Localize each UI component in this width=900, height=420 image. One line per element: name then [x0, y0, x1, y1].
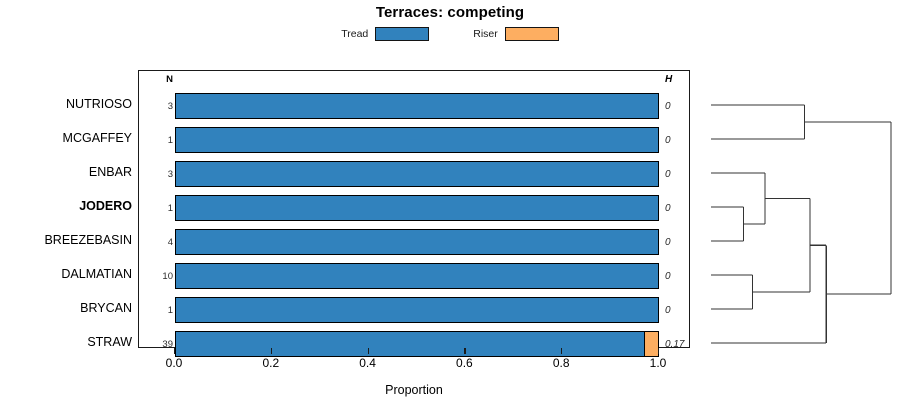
- chart-root: Terraces: competing TreadRiser N H 30103…: [0, 0, 900, 420]
- stacked-bar[interactable]: [175, 195, 659, 221]
- y-axis-label-mcgaffey: MCGAFFEY: [0, 131, 132, 145]
- chart-row: 10: [139, 123, 691, 157]
- stacked-bar[interactable]: [175, 161, 659, 187]
- n-value: 1: [147, 305, 173, 316]
- x-tick-mark: [368, 348, 369, 354]
- dendrogram: [690, 70, 900, 348]
- n-value: 3: [147, 169, 173, 180]
- bar-segment-tread[interactable]: [176, 94, 658, 118]
- n-value: 3: [147, 101, 173, 112]
- stacked-bar[interactable]: [175, 127, 659, 153]
- chart-row: 40: [139, 225, 691, 259]
- y-axis-label-nutrioso: NUTRIOSO: [0, 97, 132, 111]
- y-axis-label-straw: STRAW: [0, 335, 132, 349]
- stacked-bar[interactable]: [175, 297, 659, 323]
- bar-segment-tread[interactable]: [176, 196, 658, 220]
- legend-label: Riser: [473, 28, 498, 40]
- n-value: 1: [147, 135, 173, 146]
- x-tick-label: 0.6: [439, 356, 489, 370]
- stacked-bar[interactable]: [175, 263, 659, 289]
- legend-item-riser: Riser: [473, 27, 559, 41]
- x-tick-label: 0.8: [536, 356, 586, 370]
- x-tick-label: 0.4: [343, 356, 393, 370]
- y-axis-label-brycan: BRYCAN: [0, 301, 132, 315]
- chart-row: 10: [139, 293, 691, 327]
- bar-segment-tread[interactable]: [176, 230, 658, 254]
- x-tick-label: 0.0: [149, 356, 199, 370]
- x-tick-label: 0.2: [246, 356, 296, 370]
- x-tick-mark: [271, 348, 272, 354]
- legend-swatch-riser: [505, 27, 559, 41]
- y-axis-label-jodero: JODERO: [0, 199, 132, 213]
- legend-label: Tread: [341, 28, 368, 40]
- x-axis-title: Proportion: [138, 383, 690, 397]
- bar-segment-tread[interactable]: [176, 128, 658, 152]
- chart-row: 100: [139, 259, 691, 293]
- n-value: 1: [147, 203, 173, 214]
- legend-swatch-tread: [375, 27, 429, 41]
- bar-segment-tread[interactable]: [176, 298, 658, 322]
- bar-segment-tread[interactable]: [176, 162, 658, 186]
- legend-item-tread: Tread: [341, 27, 429, 41]
- x-tick-mark: [561, 348, 562, 354]
- stacked-bar[interactable]: [175, 229, 659, 255]
- y-axis-label-breezebasin: BREEZEBASIN: [0, 233, 132, 247]
- x-tick-mark: [174, 348, 175, 354]
- x-tick-mark: [658, 348, 659, 354]
- plot-panel: N H 301030104010010390.17: [138, 70, 690, 348]
- x-tick-mark: [464, 348, 465, 354]
- x-tick-label: 1.0: [633, 356, 683, 370]
- bar-segment-tread[interactable]: [176, 264, 658, 288]
- chart-row: 10: [139, 191, 691, 225]
- chart-row: 30: [139, 157, 691, 191]
- chart-row: 30: [139, 89, 691, 123]
- n-column-header: N: [147, 74, 173, 85]
- n-value: 4: [147, 237, 173, 248]
- y-axis-label-dalmatian: DALMATIAN: [0, 267, 132, 281]
- n-value: 10: [147, 271, 173, 282]
- stacked-bar[interactable]: [175, 93, 659, 119]
- y-axis-label-enbar: ENBAR: [0, 165, 132, 179]
- chart-title: Terraces: competing: [0, 4, 900, 21]
- legend: TreadRiser: [0, 27, 900, 41]
